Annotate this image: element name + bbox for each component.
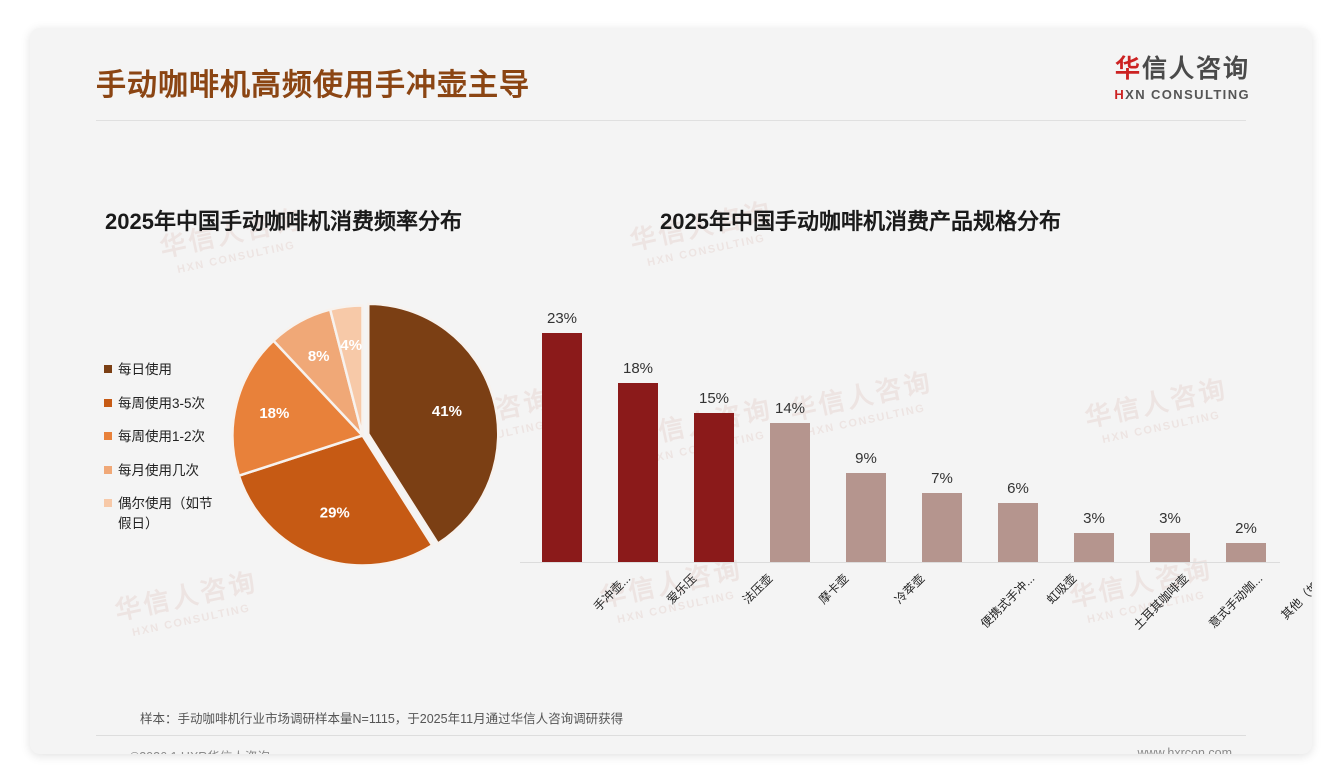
- bar-column[interactable]: 9%: [846, 278, 886, 563]
- pie-slice-label: 18%: [259, 405, 289, 422]
- bar-value-label: 9%: [831, 450, 901, 467]
- pie-slice-label: 41%: [432, 403, 462, 420]
- bar-column[interactable]: 3%: [1074, 278, 1114, 563]
- slide-header: 手动咖啡机高频使用手冲壶主导 华信人咨询 HXN CONSULTING: [30, 28, 1312, 120]
- bar-plot-area: 23%手冲壶...18%爱乐压15%法压壶14%摩卡壶9%冷萃壶7%便携式手冲.…: [520, 278, 1310, 563]
- sample-footnote: 样本：手动咖啡机行业市场调研样本量N=1115，于2025年11月通过华信人咨询…: [140, 708, 623, 727]
- logo-chinese-text: 华信人咨询: [1114, 56, 1250, 84]
- legend-item-label: 每月使用几次: [118, 461, 199, 481]
- bar-value-label: 3%: [1135, 510, 1205, 527]
- footer-divider: [96, 735, 1246, 736]
- bar-column[interactable]: 2%: [1226, 278, 1266, 563]
- pie-chart-title: 2025年中国手动咖啡机消费频率分布: [105, 204, 462, 236]
- legend-item-label: 每日使用: [118, 360, 172, 380]
- legend-swatch-icon: [104, 466, 112, 474]
- bar-value-label: 14%: [755, 400, 825, 417]
- pie-graphic: 41%29%18%8%4%: [225, 298, 500, 573]
- bar-column[interactable]: 15%: [694, 278, 734, 563]
- bar-rect[interactable]: [770, 423, 810, 563]
- header-divider: [96, 120, 1246, 121]
- legend-item[interactable]: 每周使用3-5次: [104, 394, 224, 414]
- bar-value-label: 23%: [527, 310, 597, 327]
- bar-chart: 23%手冲壶...18%爱乐压15%法压壶14%摩卡壶9%冷萃壶7%便携式手冲.…: [520, 278, 1310, 638]
- bar-rect[interactable]: [1074, 533, 1114, 563]
- bar-value-label: 2%: [1211, 520, 1281, 537]
- bar-category-label: 虹吸壶: [1043, 570, 1080, 607]
- bar-column[interactable]: 14%: [770, 278, 810, 563]
- bar-category-label: 意式手动咖...: [1205, 570, 1267, 632]
- bar-category-label: 便携式手冲...: [977, 570, 1039, 632]
- bar-chart-title: 2025年中国手动咖啡机消费产品规格分布: [660, 204, 1061, 236]
- legend-item[interactable]: 偶尔使用（如节假日）: [104, 494, 224, 533]
- bar-rect[interactable]: [998, 503, 1038, 563]
- slide-card: 华信人咨询 HXN CONSULTING 华信人咨询 HXN CONSULTIN…: [30, 28, 1312, 754]
- bar-rect[interactable]: [922, 493, 962, 563]
- bar-value-label: 6%: [983, 480, 1053, 497]
- bar-rect[interactable]: [694, 413, 734, 563]
- legend-item[interactable]: 每日使用: [104, 360, 224, 380]
- bar-value-label: 3%: [1059, 510, 1129, 527]
- bar-column[interactable]: 3%: [1150, 278, 1190, 563]
- pie-slice-label: 29%: [320, 505, 350, 522]
- bar-category-label: 土耳其咖啡壶: [1129, 570, 1192, 633]
- pie-slice-label: 8%: [308, 348, 330, 365]
- legend-swatch-icon: [104, 365, 112, 373]
- logo-en-rest: XN CONSULTING: [1125, 87, 1250, 102]
- bar-column[interactable]: 18%: [618, 278, 658, 563]
- bar-rect[interactable]: [1150, 533, 1190, 563]
- bar-column[interactable]: 7%: [922, 278, 962, 563]
- website-url: www.hxrcon.com: [1138, 746, 1232, 754]
- bar-value-label: 7%: [907, 470, 977, 487]
- bar-value-label: 15%: [679, 390, 749, 407]
- legend-item-label: 偶尔使用（如节假日）: [118, 494, 224, 533]
- watermark-en: HXN CONSULTING: [176, 237, 309, 276]
- bar-category-label: 其他（如...: [1277, 570, 1312, 623]
- legend-item[interactable]: 每周使用1-2次: [104, 427, 224, 447]
- bar-column[interactable]: 23%: [542, 278, 582, 563]
- pie-slice-label: 4%: [340, 337, 362, 354]
- company-logo: 华信人咨询 HXN CONSULTING: [1114, 56, 1250, 102]
- legend-swatch-icon: [104, 399, 112, 407]
- bar-baseline-axis: [520, 562, 1280, 563]
- bar-category-label: 法压壶: [739, 570, 776, 607]
- legend-swatch-icon: [104, 432, 112, 440]
- bar-category-label: 爱乐压: [663, 570, 700, 607]
- legend-swatch-icon: [104, 499, 112, 507]
- bar-rect[interactable]: [618, 383, 658, 563]
- pie-svg: 41%29%18%8%4%: [225, 298, 500, 573]
- bar-category-label: 冷萃壶: [891, 570, 928, 607]
- bar-rect[interactable]: [1226, 543, 1266, 563]
- bar-category-label: 手冲壶...: [589, 570, 634, 615]
- page-title: 手动咖啡机高频使用手冲壶主导: [96, 60, 530, 104]
- bar-rect[interactable]: [542, 333, 582, 563]
- legend-item[interactable]: 每月使用几次: [104, 461, 224, 481]
- legend-item-label: 每周使用3-5次: [118, 394, 205, 414]
- logo-en-accent: H: [1114, 87, 1125, 102]
- bar-rect[interactable]: [846, 473, 886, 563]
- pie-chart: 每日使用每周使用3-5次每周使用1-2次每月使用几次偶尔使用（如节假日） 41%…: [90, 288, 560, 618]
- bar-value-label: 18%: [603, 360, 673, 377]
- logo-english-text: HXN CONSULTING: [1114, 87, 1250, 102]
- bar-column[interactable]: 6%: [998, 278, 1038, 563]
- copyright-text: ©2026.1 HXR华信人咨询: [130, 746, 270, 754]
- pie-legend: 每日使用每周使用3-5次每周使用1-2次每月使用几次偶尔使用（如节假日）: [104, 360, 224, 547]
- legend-item-label: 每周使用1-2次: [118, 427, 205, 447]
- logo-cn-accent: 华: [1115, 55, 1142, 83]
- bar-category-label: 摩卡壶: [815, 570, 852, 607]
- logo-cn-rest: 信人咨询: [1142, 55, 1250, 83]
